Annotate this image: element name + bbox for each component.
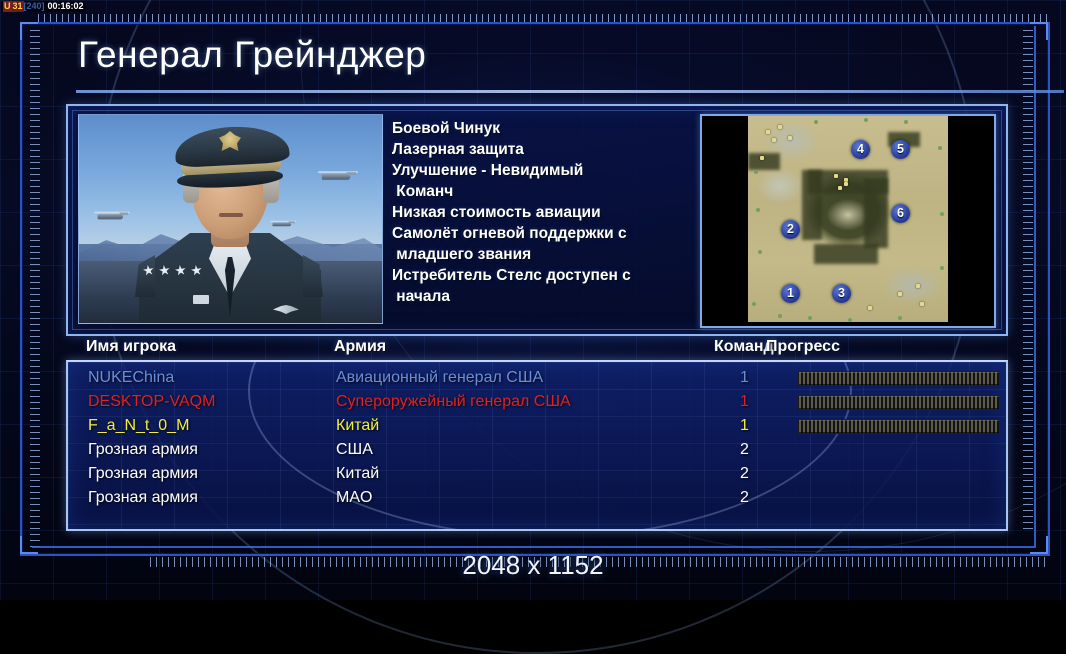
minimap-resource-dot (778, 125, 782, 129)
table-row[interactable]: F_a_N_t_0_MКитай1 (68, 414, 1006, 438)
load-progress-bar (798, 371, 1000, 386)
minimap-resource-dot (838, 186, 842, 190)
load-progress-bar (798, 395, 1000, 410)
minimap-resource-dot (788, 136, 792, 140)
page-title: Генерал Грейнджер (78, 34, 426, 76)
cell-army: Супероружейный генерал США (336, 390, 571, 414)
ability-item: Боевой Чинук (392, 118, 698, 139)
column-header-team: Команда (714, 338, 774, 356)
minimap-tree-dot (864, 118, 868, 122)
minimap-resource-dot (766, 130, 770, 134)
cell-player-name: Грозная армия (88, 486, 198, 510)
ability-item: Команч (392, 181, 698, 202)
minimap-resource-dot (920, 302, 924, 306)
minimap-resource-dot (760, 156, 764, 160)
helicopter-icon (94, 212, 130, 220)
overlay-timer: 00:16:02 (48, 1, 84, 12)
table-row[interactable]: DESKTOP-VAQMСупероружейный генерал США1 (68, 390, 1006, 414)
cell-army: Китай (336, 414, 379, 438)
player-list-panel: NUKEChinaАвиационный генерал США1DESKTOP… (66, 360, 1008, 531)
minimap-start-position-6: 6 (891, 204, 910, 223)
general-abilities-list: Боевой Чинук Лазерная защита Улучшение -… (390, 116, 698, 326)
table-row[interactable]: Грозная армияКитай2 (68, 462, 1006, 486)
column-header-player-name: Имя игрока (86, 338, 176, 356)
minimap-resource-dot (834, 174, 838, 178)
ability-item: Лазерная защита (392, 139, 698, 160)
cell-player-name: Грозная армия (88, 438, 198, 462)
rank-stars-icon (143, 265, 215, 275)
minimap-tree-dot (754, 170, 758, 174)
overlay-unit-label: U (3, 1, 12, 12)
cell-team: 1 (740, 366, 749, 390)
general-figure (131, 125, 329, 323)
overlay-fps-max: [240] (24, 1, 45, 12)
minimap-resource-dot (772, 138, 776, 142)
cell-team: 1 (740, 414, 749, 438)
ability-item: Низкая стоимость авиации (392, 202, 698, 223)
general-portrait (78, 114, 383, 324)
minimap-tree-dot (808, 316, 812, 320)
minimap-tree-dot (756, 208, 760, 212)
load-progress-bar (798, 419, 1000, 434)
game-screen: Генерал Грейнджер (0, 0, 1066, 600)
minimap-tree-dot (778, 314, 782, 318)
minimap-tree-dot (848, 318, 852, 322)
cell-team: 2 (740, 462, 749, 486)
minimap-tree-dot (940, 266, 944, 270)
minimap-tree-dot (758, 250, 762, 254)
cell-player-name: Грозная армия (88, 462, 198, 486)
minimap-start-position-2: 2 (781, 220, 800, 239)
ability-item: Истребитель Стелс доступен с (392, 265, 698, 286)
minimap-start-position-5: 5 (891, 140, 910, 159)
cell-team: 2 (740, 438, 749, 462)
minimap-image: 123456 (748, 116, 948, 322)
minimap-tree-dot (814, 120, 818, 124)
minimap-start-position-1: 1 (781, 284, 800, 303)
ability-item: начала (392, 286, 698, 307)
recording-overlay: U 31 [240] 00:16:02 (1, 1, 86, 12)
cell-army: Китай (336, 462, 379, 486)
minimap-tree-dot (904, 120, 908, 124)
cell-army: Авиационный генерал США (336, 366, 543, 390)
cell-player-name: DESKTOP-VAQM (88, 390, 215, 414)
table-row[interactable]: Грозная армияMAO2 (68, 486, 1006, 510)
general-info-panel: Боевой Чинук Лазерная защита Улучшение -… (66, 104, 1008, 336)
cell-team: 1 (740, 390, 749, 414)
minimap-resource-dot (844, 182, 848, 186)
ability-item: младшего звания (392, 244, 698, 265)
column-header-progress: Прогресс (766, 338, 840, 356)
title-bar: Генерал Грейнджер (40, 30, 1020, 92)
resolution-label: 2048 x 1152 (0, 550, 1066, 581)
minimap-tree-dot (752, 302, 756, 306)
title-underline (76, 90, 1064, 93)
overlay-fps-value: 31 (12, 1, 24, 12)
table-row[interactable]: NUKEChinaАвиационный генерал США1 (68, 366, 1006, 390)
cell-army: США (336, 438, 373, 462)
minimap-preview: 123456 (700, 114, 996, 328)
table-row[interactable]: Грозная армияСША2 (68, 438, 1006, 462)
player-table-headers: Имя игрока Армия Команда Прогресс (66, 338, 1004, 360)
cell-player-name: F_a_N_t_0_M (88, 414, 189, 438)
minimap-start-position-4: 4 (851, 140, 870, 159)
us-insignia-icon (193, 295, 209, 304)
cell-player-name: NUKEChina (88, 366, 174, 390)
minimap-resource-dot (898, 292, 902, 296)
cell-army: MAO (336, 486, 372, 510)
cell-team: 2 (740, 486, 749, 510)
minimap-start-position-3: 3 (832, 284, 851, 303)
minimap-tree-dot (898, 316, 902, 320)
ability-item: Улучшение - Невидимый (392, 160, 698, 181)
minimap-tree-dot (940, 212, 944, 216)
column-header-army: Армия (334, 338, 386, 356)
minimap-resource-dot (916, 284, 920, 288)
minimap-resource-dot (868, 306, 872, 310)
minimap-tree-dot (938, 146, 942, 150)
ability-item: Самолёт огневой поддержки с (392, 223, 698, 244)
